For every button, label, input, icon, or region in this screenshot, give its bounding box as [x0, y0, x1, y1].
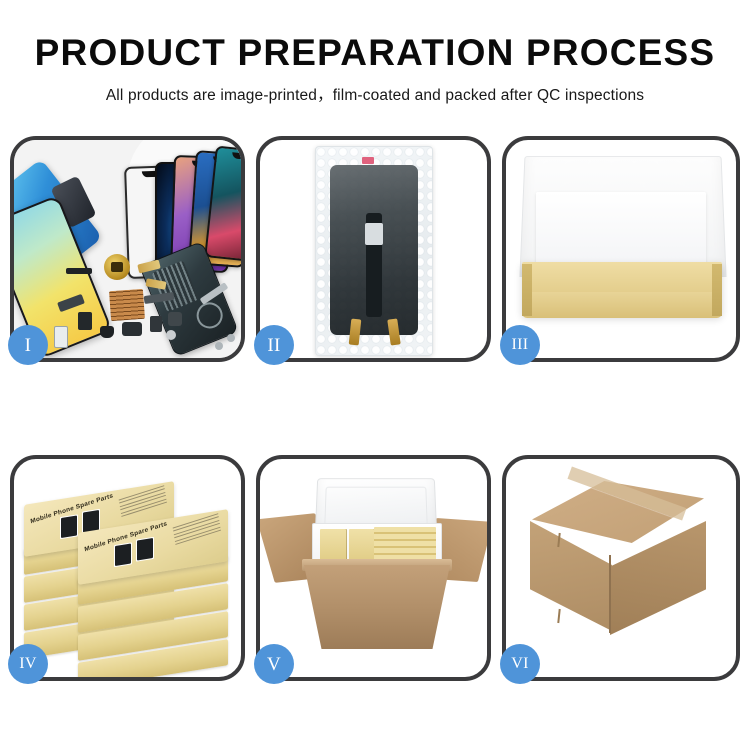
- notch: [232, 152, 241, 160]
- box-spec-lines: [173, 513, 222, 547]
- process-step-panel-4: Mobile Phone Spare Parts Mobile Phone Sp…: [10, 455, 245, 681]
- screw-part: [227, 334, 235, 342]
- spare-part: [122, 322, 142, 336]
- process-step-panel-6: VI: [502, 455, 740, 681]
- process-step-panel-5: V: [256, 455, 491, 681]
- process-step-panel-2: II: [256, 136, 491, 362]
- page-title: PRODUCT PREPARATION PROCESS: [0, 34, 750, 71]
- step-badge-4: IV: [8, 644, 48, 684]
- step-badge-6: VI: [500, 644, 540, 684]
- step-4-image: Mobile Phone Spare Parts Mobile Phone Sp…: [14, 459, 241, 677]
- yellow-box-side-left: [522, 264, 532, 316]
- process-step-panel-3: III: [502, 136, 740, 362]
- step-6-image: [506, 459, 736, 677]
- yellow-box-side-right: [712, 264, 722, 316]
- page-subtitle: All products are image-printed，film-coat…: [0, 83, 750, 105]
- spare-part: [168, 312, 182, 326]
- step-1-image: [14, 140, 241, 358]
- process-step-panel-1: I: [10, 136, 245, 362]
- carton-body: [304, 565, 450, 649]
- pink-qc-sticker: [362, 157, 374, 164]
- spare-part: [166, 330, 176, 340]
- step-3-image: [506, 140, 736, 358]
- carton-seam: [557, 609, 560, 623]
- box-screen-thumbnail: [136, 537, 154, 562]
- bubble-wrap-bag: [315, 146, 433, 356]
- speaker-part: [104, 254, 130, 280]
- box-screen-thumbnail: [60, 514, 78, 539]
- spare-part: [78, 312, 92, 330]
- spare-part: [100, 326, 114, 338]
- gold-contact: [349, 319, 362, 346]
- carton-left-face: [530, 521, 612, 631]
- screw-part: [215, 342, 223, 350]
- page-header: PRODUCT PREPARATION PROCESS All products…: [0, 0, 750, 105]
- step-5-image: [260, 459, 487, 677]
- copper-mesh-part: [109, 289, 145, 321]
- spare-part: [150, 316, 162, 332]
- step-badge-5: V: [254, 644, 294, 684]
- step-badge-1: I: [8, 325, 48, 365]
- box-spec-lines: [119, 485, 168, 519]
- spare-part: [66, 268, 92, 274]
- step-badge-2: II: [254, 325, 294, 365]
- step-2-image: [260, 140, 487, 358]
- box-screen-thumbnail: [114, 542, 132, 567]
- yellow-box-front: [522, 292, 722, 318]
- step-badge-3: III: [500, 325, 540, 365]
- box-stack: Mobile Phone Spare Parts Mobile Phone Sp…: [22, 475, 238, 671]
- carton-vertical-edge: [609, 555, 611, 633]
- process-step-grid: I II III: [10, 136, 740, 681]
- connector-chip: [365, 223, 383, 245]
- spare-part: [54, 326, 68, 348]
